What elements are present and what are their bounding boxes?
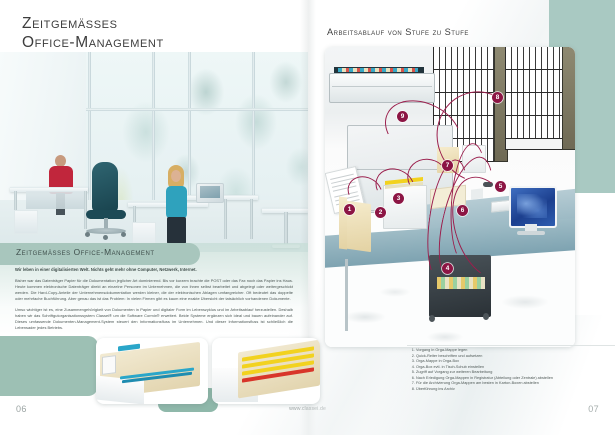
desk-leg <box>345 259 348 331</box>
office-chair <box>84 162 128 240</box>
workflow-illustration: 1 2 3 4 5 6 7 8 9 <box>325 47 575 347</box>
chair-base <box>86 228 126 234</box>
page-title-left-line1: Zeitgemässes <box>22 14 272 33</box>
chair-caster <box>121 232 126 237</box>
page-title-right: Arbeitsablauf von Stufe zu Stufe <box>327 27 469 37</box>
left-caption-text: Zeitgemässes Office-Management <box>16 247 155 257</box>
callout-badge-8: 8 <box>492 92 503 103</box>
callout-badge-5: 5 <box>495 181 506 192</box>
product-photo-yellow-tabs <box>212 338 320 404</box>
chair-backrest <box>92 162 118 212</box>
callout-badge-2: 2 <box>375 207 386 218</box>
person-head <box>171 170 181 182</box>
standing-person <box>164 165 190 252</box>
brochure-spread: Zeitgemässes Office-Management Zeitgemäs… <box>0 0 615 435</box>
window-transom <box>86 108 308 111</box>
workflow-legend: Vorgang in Orga-Mappe legen Quick-Reiter… <box>409 348 609 392</box>
desk-column <box>284 212 288 246</box>
list-item: Überführung ins Archiv <box>416 387 609 393</box>
cabinet-open-drawer <box>329 73 435 103</box>
person-torso <box>166 186 187 219</box>
desk-leg <box>250 199 253 239</box>
accent-block-left <box>0 336 98 396</box>
chair-caster <box>103 235 108 240</box>
callout-badge-7: 7 <box>442 160 453 171</box>
folder-insert <box>102 355 116 375</box>
body-paragraph-1: Bisher war das Datenträger Papier für di… <box>15 278 293 301</box>
left-caption-band: Zeitgemässes Office-Management <box>0 243 200 265</box>
drawer-folder-tabs <box>338 68 418 72</box>
desk-monitor <box>196 183 224 203</box>
page-title-left-line2: Office-Management <box>22 33 272 52</box>
callout-badge-6: 6 <box>457 205 468 216</box>
workflow-steps-list: Vorgang in Orga-Mappe legen Quick-Reiter… <box>409 348 609 392</box>
trolley-caster <box>483 313 489 320</box>
callout-badge-3: 3 <box>393 193 404 204</box>
desk-modesty-panel <box>26 191 84 209</box>
callout-badge-1: 1 <box>344 204 355 215</box>
product-photo-blue-tabs <box>96 338 208 404</box>
body-lead: Wir leben in einer digitalisierten Welt.… <box>15 267 293 273</box>
body-paragraph-2: Umso wichtiger ist es, eine Zusammengehö… <box>15 307 293 330</box>
trolley-caster <box>429 315 435 322</box>
desk-leg <box>224 199 227 239</box>
chair-caster <box>85 232 90 237</box>
pedestal-unit <box>14 210 38 234</box>
callout-badge-0: 9 <box>397 111 408 122</box>
shelf-divider <box>562 47 575 150</box>
page-title-left: Zeitgemässes Office-Management <box>22 14 272 52</box>
person-skirt <box>167 217 186 245</box>
imac-foot <box>517 231 545 235</box>
office-photo <box>0 52 308 252</box>
left-body-copy: Wir leben in einer digitalisierten Welt.… <box>15 267 293 337</box>
callout-badge-4: 4 <box>442 263 453 274</box>
